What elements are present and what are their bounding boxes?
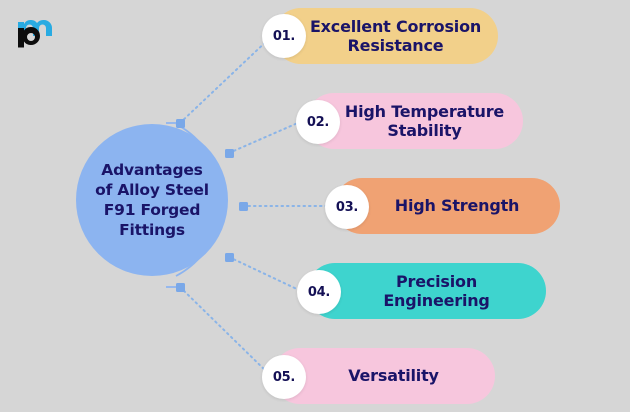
item-badge-5[interactable]: 05. (262, 355, 306, 399)
connector-line-2 (229, 122, 300, 153)
item-number-4: 04. (308, 285, 330, 300)
item-number-5: 05. (273, 370, 295, 385)
item-number-2: 02. (307, 115, 329, 130)
connector-line-1 (180, 36, 272, 123)
item-label-3: High Strength (361, 196, 534, 215)
arc-node-3 (239, 202, 248, 211)
item-badge-4[interactable]: 04. (297, 270, 341, 314)
item-badge-3[interactable]: 03. (325, 185, 369, 229)
item-number-3: 03. (336, 200, 358, 215)
infographic-canvas: Advantages of Alloy Steel F91 Forged Fit… (0, 0, 630, 412)
item-number-1: 01. (273, 29, 295, 44)
arc-node-2 (225, 149, 234, 158)
hub-circle: Advantages of Alloy Steel F91 Forged Fit… (76, 124, 228, 276)
item-badge-1[interactable]: 01. (262, 14, 306, 58)
item-label-2: High Temperature Stability (311, 102, 518, 140)
item-pill-1[interactable]: Excellent Corrosion Resistance (273, 8, 498, 64)
item-badge-2[interactable]: 02. (296, 100, 340, 144)
arc-node-5 (176, 283, 185, 292)
arc-node-1 (176, 119, 185, 128)
item-label-1: Excellent Corrosion Resistance (276, 17, 495, 55)
hub-title: Advantages of Alloy Steel F91 Forged Fit… (87, 160, 217, 241)
item-label-4: Precision Engineering (307, 272, 546, 310)
connector-line-4 (229, 257, 301, 291)
arc-node-4 (225, 253, 234, 262)
item-label-5: Versatility (314, 366, 453, 385)
connector-line-5 (180, 287, 270, 375)
item-pill-4[interactable]: Precision Engineering (307, 263, 546, 319)
